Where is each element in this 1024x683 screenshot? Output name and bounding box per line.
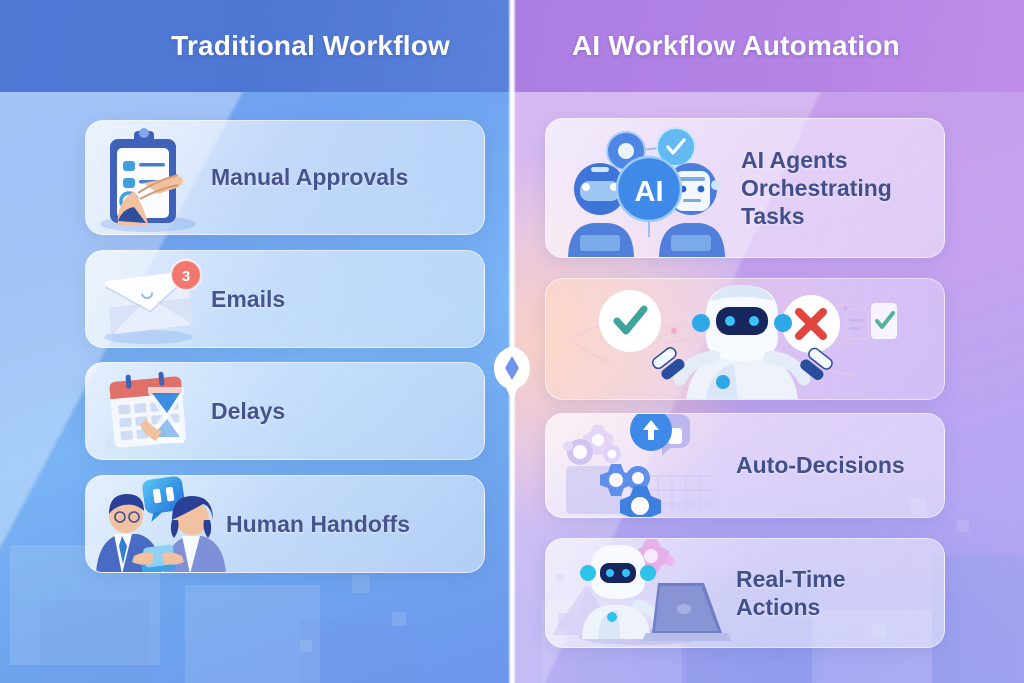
lightning-bolt-badge-icon [487,344,537,400]
card-manual-approvals-labels: Manual Approvals [211,163,408,191]
right-header-title: AI Workflow Automation [572,30,900,62]
bg-shape [300,640,312,652]
left-panel-traditional-workflow: Traditional Workflow [0,0,512,683]
card-label: Auto-Decisions [736,451,905,479]
gears-decision-icon [546,414,736,517]
card-emails-labels: Emails [211,285,285,313]
card-real-time-actions-labels: Real-Time Actions [736,565,846,621]
center-divider [508,0,516,683]
card-manual-approvals[interactable]: Manual Approvals [85,120,485,235]
card-label: Orchestrating [741,174,892,202]
robot-laptop-icon [546,539,736,647]
card-delays[interactable]: Delays [85,362,485,460]
card-label: Real-Time [736,565,846,593]
card-label: Actions [736,593,846,621]
email-badge-count: 3 [182,268,190,285]
robot-approve-reject-icon [546,279,945,399]
card-label: Emails [211,285,285,313]
card-delays-labels: Delays [211,397,285,425]
bg-shape [932,555,1024,683]
infographic-canvas: Traditional Workflow [0,0,1024,683]
card-label: Manual Approvals [211,163,408,191]
card-label: Delays [211,397,285,425]
clipboard-hand-icon [86,121,211,234]
card-ai-agents-orchestrating-tasks[interactable]: AI AI Agents Orchestrating Tasks [545,118,945,258]
left-header-title: Traditional Workflow [171,30,450,62]
two-people-handoff-icon [86,476,226,572]
ai-network-agents-icon: AI [546,119,741,257]
calendar-hourglass-icon [86,363,211,459]
card-label: Tasks [741,202,892,230]
ai-hub-label: AI [635,176,664,208]
card-robot-decision[interactable] [545,278,945,400]
right-panel-ai-workflow-automation: AI Workflow Automation [512,0,1024,683]
bg-shape [300,620,420,683]
card-human-handoffs-labels: Human Handoffs [226,510,410,538]
card-ai-agents-labels: AI Agents Orchestrating Tasks [741,146,892,230]
card-real-time-actions[interactable]: Real-Time Actions [545,538,945,648]
card-emails[interactable]: 3 Emails [85,250,485,348]
left-header: Traditional Workflow [0,0,512,92]
card-human-handoffs[interactable]: Human Handoffs [85,475,485,573]
envelope-icon: 3 [86,251,211,347]
bg-shape [957,520,969,532]
card-auto-decisions-labels: Auto-Decisions [736,451,905,479]
right-header: AI Workflow Automation [512,0,1024,92]
card-label: AI Agents [741,146,892,174]
bg-shape [352,575,370,593]
bg-shape [392,612,406,626]
card-label: Human Handoffs [226,510,410,538]
card-auto-decisions[interactable]: Auto-Decisions [545,413,945,518]
bg-shape [40,600,150,683]
